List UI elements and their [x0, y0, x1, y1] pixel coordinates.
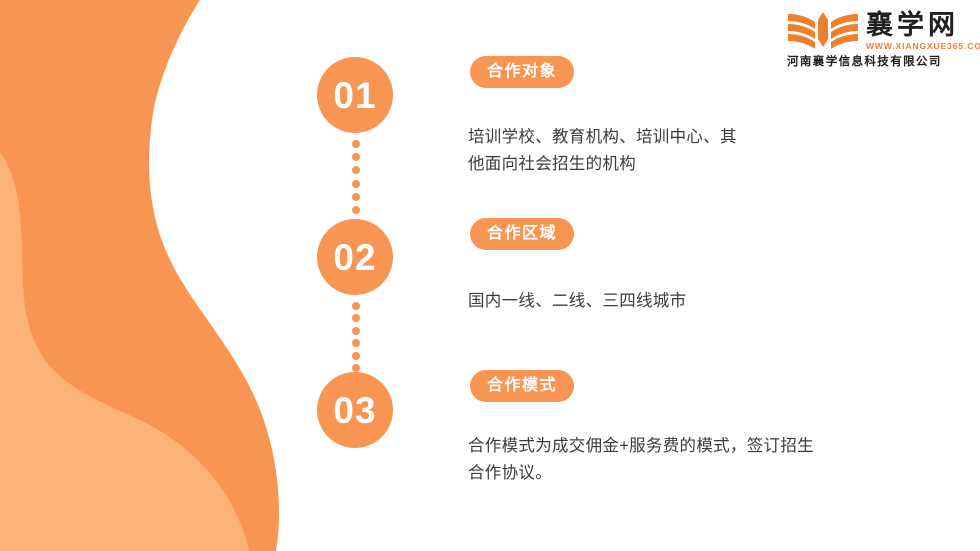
dotted-connector-1 — [351, 140, 360, 214]
step-body-text-02: 国内一线、二线、三四线城市 — [468, 288, 898, 315]
connector-dot — [352, 364, 360, 372]
dotted-connector-2 — [351, 302, 360, 372]
step-number-badge-01: 01 — [317, 57, 393, 133]
step-body-text-01: 培训学校、教育机构、培训中心、其 他面向社会招生的机构 — [468, 124, 898, 178]
step-title-pill-03[interactable]: 合作模式 — [470, 370, 574, 402]
step-number-label: 03 — [333, 392, 376, 429]
connector-dot — [352, 339, 360, 347]
connector-dot — [352, 206, 360, 214]
slide-canvas: 襄学网 WWW.XIANGXUE365.COM 河南襄学信息科技有限公司 — [0, 0, 980, 551]
step-number-badge-02: 02 — [317, 219, 393, 295]
step-title-pill-01[interactable]: 合作对象 — [470, 56, 574, 88]
steps-timeline: 01 合作对象 培训学校、教育机构、培训中心、其 他面向社会招生的机构 02 合… — [0, 0, 980, 551]
step-number-label: 02 — [333, 239, 376, 276]
connector-dot — [352, 166, 360, 174]
connector-dot — [352, 302, 360, 310]
connector-dot — [352, 352, 360, 360]
step-title-label: 合作区域 — [487, 226, 557, 242]
connector-dot — [352, 140, 360, 148]
step-number-badge-03: 03 — [317, 372, 393, 448]
step-title-label: 合作对象 — [487, 64, 557, 80]
connector-dot — [352, 193, 360, 201]
step-title-pill-02[interactable]: 合作区域 — [470, 218, 574, 250]
connector-dot — [352, 314, 360, 322]
connector-dot — [352, 153, 360, 161]
connector-dot — [352, 180, 360, 188]
step-title-label: 合作模式 — [487, 378, 557, 394]
step-body-text-03: 合作模式为成交佣金+服务费的模式，签订招生 合作协议。 — [468, 433, 898, 487]
connector-dot — [352, 327, 360, 335]
step-number-label: 01 — [333, 77, 376, 114]
